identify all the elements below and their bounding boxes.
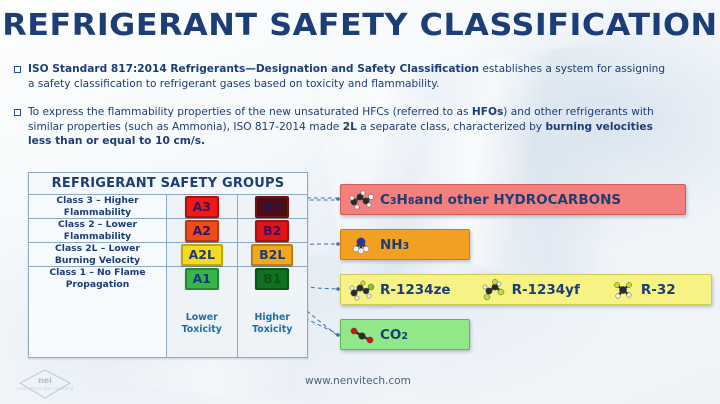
- class-label-line1: Class 3 – Higher: [56, 195, 138, 207]
- safety-group-cell-lower[interactable]: A2L: [167, 243, 238, 266]
- bullet-segment-1: HFOs: [472, 106, 503, 118]
- bullet-segment-0: To express the flammability properties o…: [28, 106, 472, 118]
- safety-group-badge[interactable]: A3: [185, 196, 219, 218]
- callout-item: C3H8 and other HYDROCARBONS: [349, 189, 621, 211]
- class-label-cell: Class 2L – LowerBurning Velocity: [29, 243, 167, 266]
- callout-hydrocarbons: C3H8 and other HYDROCARBONS: [340, 184, 686, 215]
- toxicity-row-spacer: [29, 290, 167, 357]
- callout-formula: CO2: [380, 327, 408, 343]
- safety-group-cell-lower[interactable]: A2: [167, 219, 238, 242]
- class-label-line2: Flammability: [58, 231, 137, 243]
- class-label-cell: Class 3 – HigherFlammability: [29, 195, 167, 218]
- r32-molecule-icon: [610, 279, 636, 301]
- callout-item: R-1234yf: [481, 279, 580, 301]
- safety-group-cell-higher[interactable]: B2: [238, 219, 308, 242]
- callout-item: R-1234ze: [349, 279, 451, 301]
- toxicity-lower-line2: Toxicity: [182, 324, 222, 336]
- callout-item: R-32: [610, 279, 676, 301]
- callout-formula: NH3: [380, 237, 409, 253]
- r1234ze-molecule-icon: [349, 279, 375, 301]
- ammonia-molecule-icon: [349, 234, 375, 256]
- formula-part: H: [397, 192, 408, 208]
- class-label-line2: Propagation: [49, 279, 145, 291]
- callout-item: CO2: [349, 324, 408, 346]
- slide-canvas: REFRIGERANT SAFETY CLASSIFICATION ISO St…: [0, 0, 720, 404]
- bullet-iso-standard-text: ISO Standard 817:2014 Refrigerants—Desig…: [28, 62, 668, 91]
- safety-group-badge[interactable]: B2: [255, 220, 289, 242]
- co2-molecule-icon: [349, 324, 375, 346]
- table-row-toxicity: Lower Toxicity Higher Toxicity: [29, 290, 307, 357]
- toxicity-higher-label: Higher Toxicity: [252, 312, 292, 335]
- formula-subscript: 3: [403, 241, 410, 252]
- class-label-line1: Class 2L – Lower: [55, 243, 140, 255]
- refrigerant-safety-groups-table: REFRIGERANT SAFETY GROUPS Class 3 – High…: [28, 172, 308, 358]
- table-row: Class 2L – LowerBurning VelocityA2LB2L: [29, 243, 307, 267]
- bullet-iso-standard: ISO Standard 817:2014 Refrigerants—Desig…: [14, 62, 704, 91]
- class-label-line2: Burning Velocity: [55, 255, 140, 267]
- formula-subscript: 8: [408, 196, 415, 207]
- class-label-line2: Flammability: [56, 207, 138, 219]
- table-row: Class 1 – No FlamePropagationA1B1: [29, 267, 307, 290]
- formula-part: CO: [380, 327, 401, 343]
- bullet-2l-class: To express the flammability properties o…: [14, 105, 704, 149]
- class-label-line1: Class 1 – No Flame: [49, 267, 145, 279]
- safety-group-badge[interactable]: B3: [255, 196, 289, 218]
- callout-ammonia: NH3: [340, 229, 470, 260]
- toxicity-higher-line1: Higher: [252, 312, 292, 324]
- callout-formula: C3H8 and other HYDROCARBONS: [380, 192, 621, 208]
- class-label-cell: Class 2 – LowerFlammability: [29, 219, 167, 242]
- safety-group-badge[interactable]: B1: [255, 268, 289, 290]
- safety-group-cell-lower[interactable]: A1: [167, 267, 238, 290]
- formula-subscript: 2: [401, 331, 408, 342]
- bullet-2l-class-text: To express the flammability properties o…: [28, 105, 668, 149]
- safety-group-cell-higher[interactable]: B1: [238, 267, 308, 290]
- bullet-square-icon: [14, 109, 21, 116]
- table-row: Class 3 – HigherFlammabilityA3B3: [29, 195, 307, 219]
- formula-part: NH: [380, 237, 403, 253]
- safety-group-cell-higher[interactable]: B3: [238, 195, 308, 218]
- r1234yf-molecule-icon: [481, 279, 507, 301]
- formula-part: R-1234ze: [380, 282, 451, 298]
- nei-logo: nei innovative gas cleaning: [14, 368, 76, 400]
- bullet-segment-4: a separate class, characterized by: [357, 121, 546, 133]
- table-row: Class 2 – LowerFlammabilityA2B2: [29, 219, 307, 243]
- bullet-segment-3: 2L: [343, 121, 357, 133]
- callout-formula: R-1234ze: [380, 282, 451, 298]
- safety-group-cell-higher[interactable]: B2L: [238, 243, 308, 266]
- formula-part: R-1234yf: [512, 282, 580, 298]
- safety-group-badge[interactable]: A1: [185, 268, 219, 290]
- logo-tagline: innovative gas cleaning: [14, 386, 76, 391]
- logo-name: nei: [14, 376, 76, 385]
- formula-part: R-32: [641, 282, 676, 298]
- toxicity-lower-cell: Lower Toxicity: [167, 290, 238, 357]
- class-label-line1: Class 2 – Lower: [58, 219, 137, 231]
- propane-molecule-icon: [349, 189, 375, 211]
- table-header: REFRIGERANT SAFETY GROUPS: [29, 173, 307, 195]
- bullet-square-icon: [14, 66, 21, 73]
- bullet-segment-0: ISO Standard 817:2014 Refrigerants—Desig…: [28, 63, 479, 75]
- toxicity-lower-line1: Lower: [182, 312, 222, 324]
- safety-group-badge[interactable]: A2: [185, 220, 219, 242]
- safety-group-badge[interactable]: A2L: [181, 244, 223, 266]
- toxicity-higher-cell: Higher Toxicity: [238, 290, 308, 357]
- callout-item: NH3: [349, 234, 409, 256]
- class-label-cell: Class 1 – No FlamePropagation: [29, 267, 167, 290]
- footer-website-url[interactable]: www.nenvitech.com: [305, 375, 411, 387]
- callout-co2: CO2: [340, 319, 470, 350]
- formula-part: and other HYDROCARBONS: [414, 192, 621, 208]
- safety-group-badge[interactable]: B2L: [251, 244, 293, 266]
- formula-subscript: 3: [390, 196, 397, 207]
- table-body: Class 3 – HigherFlammabilityA3B3Class 2 …: [29, 195, 307, 290]
- formula-part: C: [380, 192, 390, 208]
- page-title: REFRIGERANT SAFETY CLASSIFICATION: [0, 8, 720, 43]
- callout-formula: R-32: [641, 282, 676, 298]
- safety-group-cell-lower[interactable]: A3: [167, 195, 238, 218]
- toxicity-lower-label: Lower Toxicity: [182, 312, 222, 335]
- toxicity-higher-line2: Toxicity: [252, 324, 292, 336]
- callout-hfo-refrigerants: R-1234zeR-1234yfR-32: [340, 274, 712, 305]
- callout-formula: R-1234yf: [512, 282, 580, 298]
